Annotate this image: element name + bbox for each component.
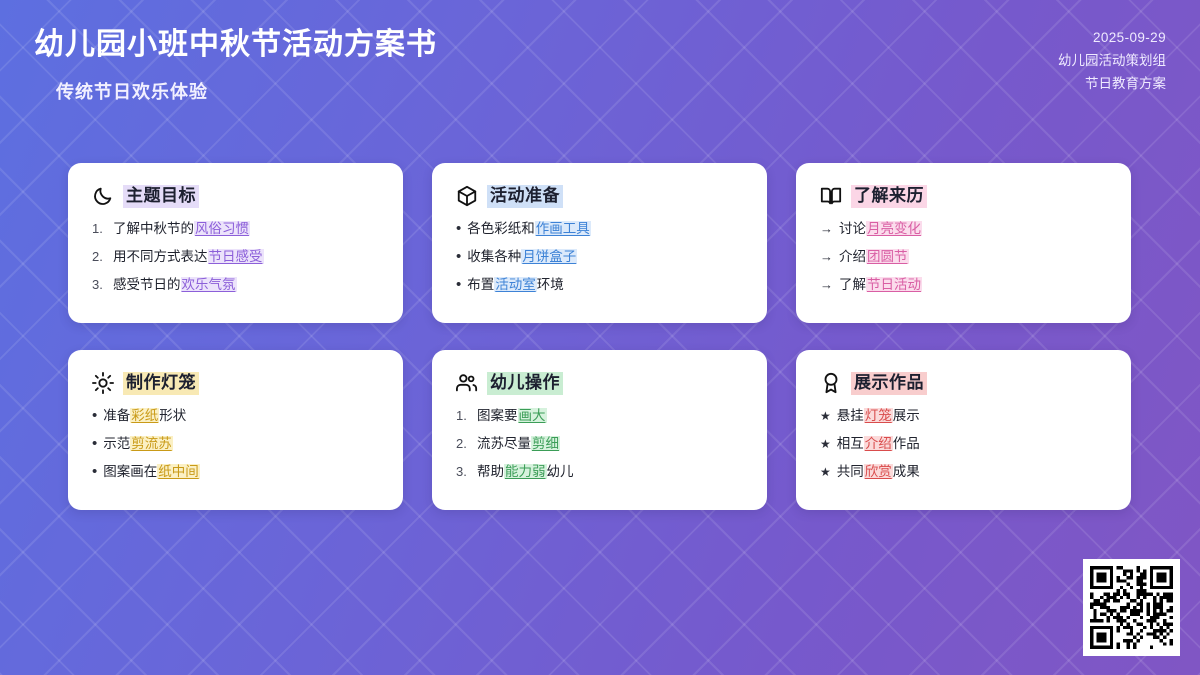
list-item-text: 了解中秋节的风俗习惯 — [113, 220, 250, 238]
list-item: 3.帮助能力弱幼儿 — [456, 463, 743, 481]
item-keyword: 节日活动 — [866, 277, 922, 292]
item-keyword: 介绍 — [864, 436, 893, 451]
card-title: 了解来历 — [851, 185, 927, 208]
list-item-text: 图案画在纸中间 — [103, 463, 200, 481]
list-marker: • — [92, 408, 97, 423]
list-item: •准备彩纸形状 — [92, 407, 379, 425]
list-marker: • — [456, 221, 461, 236]
item-text-pre: 图案画在 — [103, 464, 157, 479]
list-item-text: 相互介绍作品 — [837, 435, 920, 453]
slide-header: 幼儿园小班中秋节活动方案书 传统节日欢乐体验 2025-09-29 幼儿园活动策… — [0, 0, 1200, 140]
list-item-text: 了解节日活动 — [839, 276, 922, 294]
item-text-pre: 共同 — [837, 464, 864, 479]
list-item-text: 收集各种月饼盒子 — [467, 248, 577, 266]
list-marker: → — [820, 276, 833, 294]
list-item-text: 准备彩纸形状 — [103, 407, 186, 425]
list-item: 2.流苏尽量剪细 — [456, 435, 743, 453]
list-item: 3.感受节日的欢乐气氛 — [92, 276, 379, 294]
list-item: →介绍团圆节 — [820, 248, 1107, 266]
item-keyword: 纸中间 — [157, 464, 200, 479]
qr-code[interactable] — [1083, 559, 1180, 656]
item-keyword: 欢乐气氛 — [181, 277, 237, 292]
list-marker: 2. — [92, 248, 107, 266]
item-text-pre: 了解中秋节的 — [113, 221, 194, 236]
card-header: 制作灯笼 — [92, 372, 379, 395]
header-title-block: 幼儿园小班中秋节活动方案书 传统节日欢乐体验 — [34, 26, 437, 104]
header-meta-block: 2025-09-29 幼儿园活动策划组 节日教育方案 — [1058, 26, 1166, 96]
item-text-pre: 帮助 — [477, 464, 504, 479]
list-marker: • — [92, 436, 97, 451]
item-keyword: 灯笼 — [864, 408, 893, 423]
list-item-text: 流苏尽量剪细 — [477, 435, 560, 453]
list-marker: 2. — [456, 435, 471, 453]
card-title: 活动准备 — [487, 185, 563, 208]
card-list: 1.图案要画大2.流苏尽量剪细3.帮助能力弱幼儿 — [456, 407, 743, 482]
item-keyword: 活动室 — [494, 277, 537, 292]
list-item: •各色彩纸和作画工具 — [456, 220, 743, 238]
qr-code-canvas — [1090, 566, 1173, 649]
item-text-pre: 布置 — [467, 277, 494, 292]
card-title: 主题目标 — [123, 185, 199, 208]
card-title: 展示作品 — [851, 372, 927, 395]
item-keyword: 团圆节 — [866, 249, 909, 264]
list-item: →了解节日活动 — [820, 276, 1107, 294]
item-keyword: 月亮变化 — [866, 221, 922, 236]
list-item-text: 讨论月亮变化 — [839, 220, 922, 238]
card-list: •准备彩纸形状•示范剪流苏•图案画在纸中间 — [92, 407, 379, 482]
list-item-text: 感受节日的欢乐气氛 — [113, 276, 237, 294]
item-text-pre: 用不同方式表达 — [113, 249, 208, 264]
item-text-post: 环境 — [537, 277, 564, 292]
card-title: 幼儿操作 — [487, 372, 563, 395]
card-主题目标: 主题目标1.了解中秋节的风俗习惯2.用不同方式表达节日感受3.感受节日的欢乐气氛 — [68, 163, 403, 323]
list-item: →讨论月亮变化 — [820, 220, 1107, 238]
list-marker: 1. — [92, 220, 107, 238]
moon-icon — [92, 185, 114, 207]
card-title: 制作灯笼 — [123, 372, 199, 395]
card-list: •各色彩纸和作画工具•收集各种月饼盒子•布置活动室环境 — [456, 220, 743, 295]
list-item: 1.了解中秋节的风俗习惯 — [92, 220, 379, 238]
header-date: 2025-09-29 — [1058, 26, 1166, 49]
item-keyword: 节日感受 — [208, 249, 264, 264]
list-marker: 3. — [456, 463, 471, 481]
list-item: 1.图案要画大 — [456, 407, 743, 425]
card-header: 幼儿操作 — [456, 372, 743, 395]
page-subtitle: 传统节日欢乐体验 — [56, 78, 437, 104]
card-list: →讨论月亮变化→介绍团圆节→了解节日活动 — [820, 220, 1107, 295]
list-item-text: 用不同方式表达节日感受 — [113, 248, 264, 266]
list-item: ★共同欣赏成果 — [820, 463, 1107, 481]
list-item-text: 布置活动室环境 — [467, 276, 564, 294]
list-item: •布置活动室环境 — [456, 276, 743, 294]
card-header: 展示作品 — [820, 372, 1107, 395]
card-制作灯笼: 制作灯笼•准备彩纸形状•示范剪流苏•图案画在纸中间 — [68, 350, 403, 510]
list-marker: • — [456, 277, 461, 292]
users-icon — [456, 372, 478, 394]
item-keyword: 能力弱 — [504, 464, 547, 479]
card-list: 1.了解中秋节的风俗习惯2.用不同方式表达节日感受3.感受节日的欢乐气氛 — [92, 220, 379, 295]
list-item-text: 图案要画大 — [477, 407, 547, 425]
item-text-pre: 流苏尽量 — [477, 436, 531, 451]
card-活动准备: 活动准备•各色彩纸和作画工具•收集各种月饼盒子•布置活动室环境 — [432, 163, 767, 323]
list-item: 2.用不同方式表达节日感受 — [92, 248, 379, 266]
item-text-pre: 准备 — [103, 408, 130, 423]
list-item: ★相互介绍作品 — [820, 435, 1107, 453]
item-keyword: 作画工具 — [535, 221, 591, 236]
list-marker: ★ — [820, 464, 831, 480]
item-keyword: 月饼盒子 — [521, 249, 577, 264]
list-item: •图案画在纸中间 — [92, 463, 379, 481]
header-organization: 幼儿园活动策划组 — [1058, 49, 1166, 72]
card-幼儿操作: 幼儿操作1.图案要画大2.流苏尽量剪细3.帮助能力弱幼儿 — [432, 350, 767, 510]
list-item-text: 帮助能力弱幼儿 — [477, 463, 574, 481]
item-text-post: 成果 — [893, 464, 920, 479]
list-item-text: 悬挂灯笼展示 — [837, 407, 920, 425]
card-grid: 主题目标1.了解中秋节的风俗习惯2.用不同方式表达节日感受3.感受节日的欢乐气氛… — [68, 163, 1136, 510]
item-text-pre: 收集各种 — [467, 249, 521, 264]
list-marker: • — [92, 464, 97, 479]
card-了解来历: 了解来历→讨论月亮变化→介绍团圆节→了解节日活动 — [796, 163, 1131, 323]
sun-icon — [92, 372, 114, 394]
list-item-text: 介绍团圆节 — [839, 248, 909, 266]
item-text-pre: 示范 — [103, 436, 130, 451]
card-list: ★悬挂灯笼展示★相互介绍作品★共同欣赏成果 — [820, 407, 1107, 482]
item-keyword: 画大 — [518, 408, 547, 423]
book-icon — [820, 185, 842, 207]
list-item: ★悬挂灯笼展示 — [820, 407, 1107, 425]
card-展示作品: 展示作品★悬挂灯笼展示★相互介绍作品★共同欣赏成果 — [796, 350, 1131, 510]
item-text-pre: 了解 — [839, 277, 866, 292]
item-text-pre: 讨论 — [839, 221, 866, 236]
item-text-post: 作品 — [893, 436, 920, 451]
item-text-pre: 相互 — [837, 436, 864, 451]
card-header: 主题目标 — [92, 185, 379, 208]
box-icon — [456, 185, 478, 207]
list-marker: ★ — [820, 408, 831, 424]
list-marker: → — [820, 248, 833, 266]
list-marker: 1. — [456, 407, 471, 425]
list-marker: → — [820, 220, 833, 238]
item-keyword: 彩纸 — [130, 408, 159, 423]
page-title: 幼儿园小班中秋节活动方案书 — [34, 26, 437, 64]
award-icon — [820, 372, 842, 394]
item-keyword: 欣赏 — [864, 464, 893, 479]
list-marker: ★ — [820, 436, 831, 452]
list-item-text: 各色彩纸和作画工具 — [467, 220, 591, 238]
list-item: •收集各种月饼盒子 — [456, 248, 743, 266]
item-text-post: 展示 — [893, 408, 920, 423]
list-marker: • — [456, 249, 461, 264]
item-keyword: 剪流苏 — [130, 436, 173, 451]
item-text-pre: 图案要 — [477, 408, 518, 423]
card-header: 了解来历 — [820, 185, 1107, 208]
item-text-post: 幼儿 — [547, 464, 574, 479]
list-item-text: 共同欣赏成果 — [837, 463, 920, 481]
item-text-pre: 感受节日的 — [113, 277, 181, 292]
list-item-text: 示范剪流苏 — [103, 435, 173, 453]
card-header: 活动准备 — [456, 185, 743, 208]
item-text-post: 形状 — [159, 408, 186, 423]
item-keyword: 风俗习惯 — [194, 221, 250, 236]
item-text-pre: 介绍 — [839, 249, 866, 264]
item-keyword: 剪细 — [531, 436, 560, 451]
list-item: •示范剪流苏 — [92, 435, 379, 453]
header-category: 节日教育方案 — [1058, 72, 1166, 95]
item-text-pre: 悬挂 — [837, 408, 864, 423]
list-marker: 3. — [92, 276, 107, 294]
item-text-pre: 各色彩纸和 — [467, 221, 535, 236]
